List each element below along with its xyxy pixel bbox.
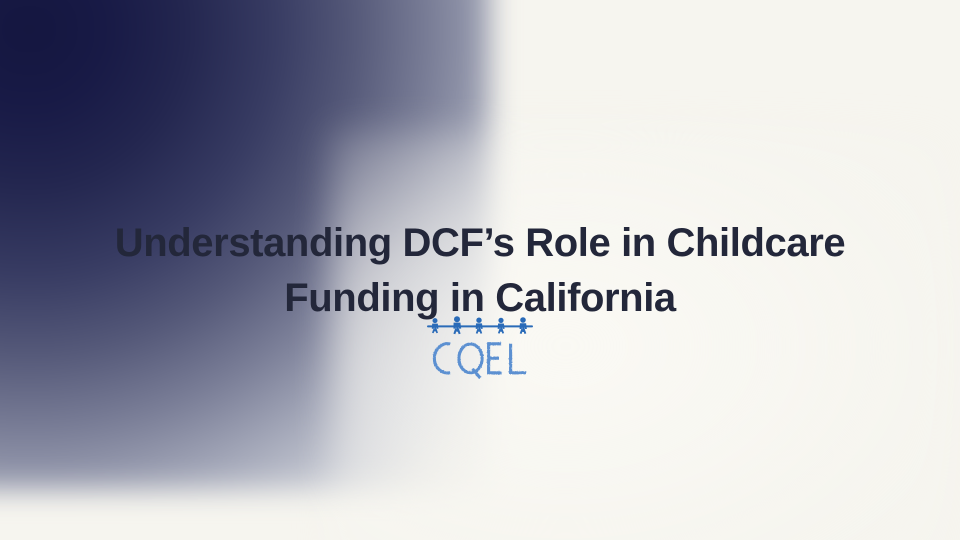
cqel-logo-graphic [424,316,536,380]
figure-3 [476,318,483,334]
figure-4 [498,318,505,334]
figure-2 [453,316,461,334]
title-slide: Understanding DCF’s Role in Childcare Fu… [0,0,960,540]
figure-1 [432,318,439,333]
figure-5 [520,317,527,334]
slide-title-line-1: Understanding DCF’s Role in Childcare [80,216,880,271]
slide-content: Understanding DCF’s Role in Childcare Fu… [0,0,960,540]
cqel-logo [424,316,536,380]
cqel-wordmark [434,344,526,378]
slide-title: Understanding DCF’s Role in Childcare Fu… [80,216,880,326]
people-holding-hands-icon [427,316,533,334]
